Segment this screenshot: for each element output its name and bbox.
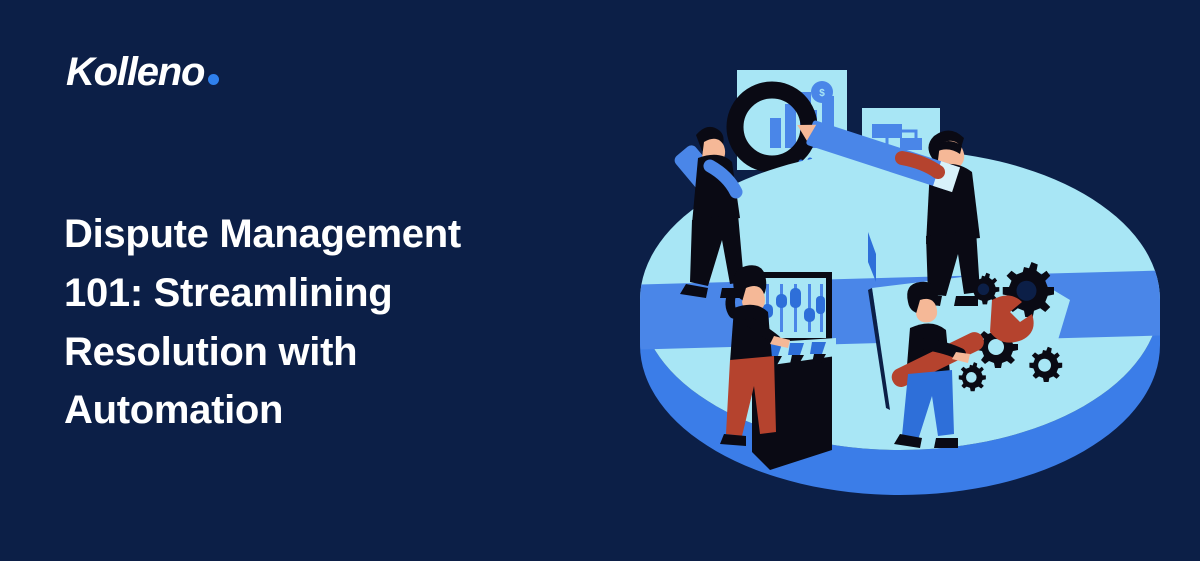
svg-text:$: $ — [819, 88, 825, 99]
logo-wordmark: Kolleno — [66, 52, 204, 92]
page-title: Dispute Management 101: Streamlining Res… — [64, 205, 534, 440]
logo-dot-icon — [208, 74, 219, 85]
hero-illustration: $ — [600, 0, 1200, 561]
hero-banner: Kolleno Dispute Management 101: Streamli… — [0, 0, 1200, 561]
kolleno-logo[interactable]: Kolleno — [66, 52, 219, 92]
